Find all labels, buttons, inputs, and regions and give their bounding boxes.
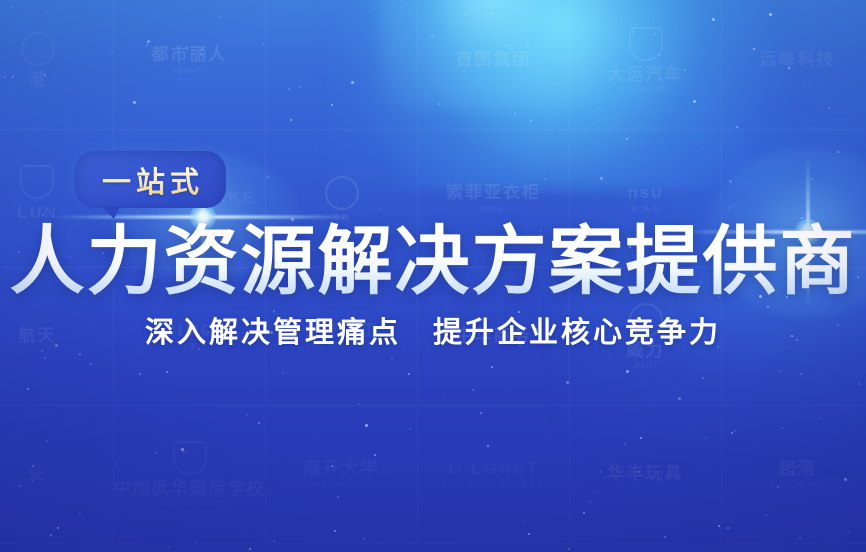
hero-banner: 港都市丽人BEAUTY首图集团大运汽车DAYUNAUTO远峰科技LUN润LOHA… [0,0,866,552]
vignette-overlay [0,0,866,552]
one-stop-badge-label: 一站式 [97,159,204,201]
one-stop-badge: 一站式 [75,151,226,208]
